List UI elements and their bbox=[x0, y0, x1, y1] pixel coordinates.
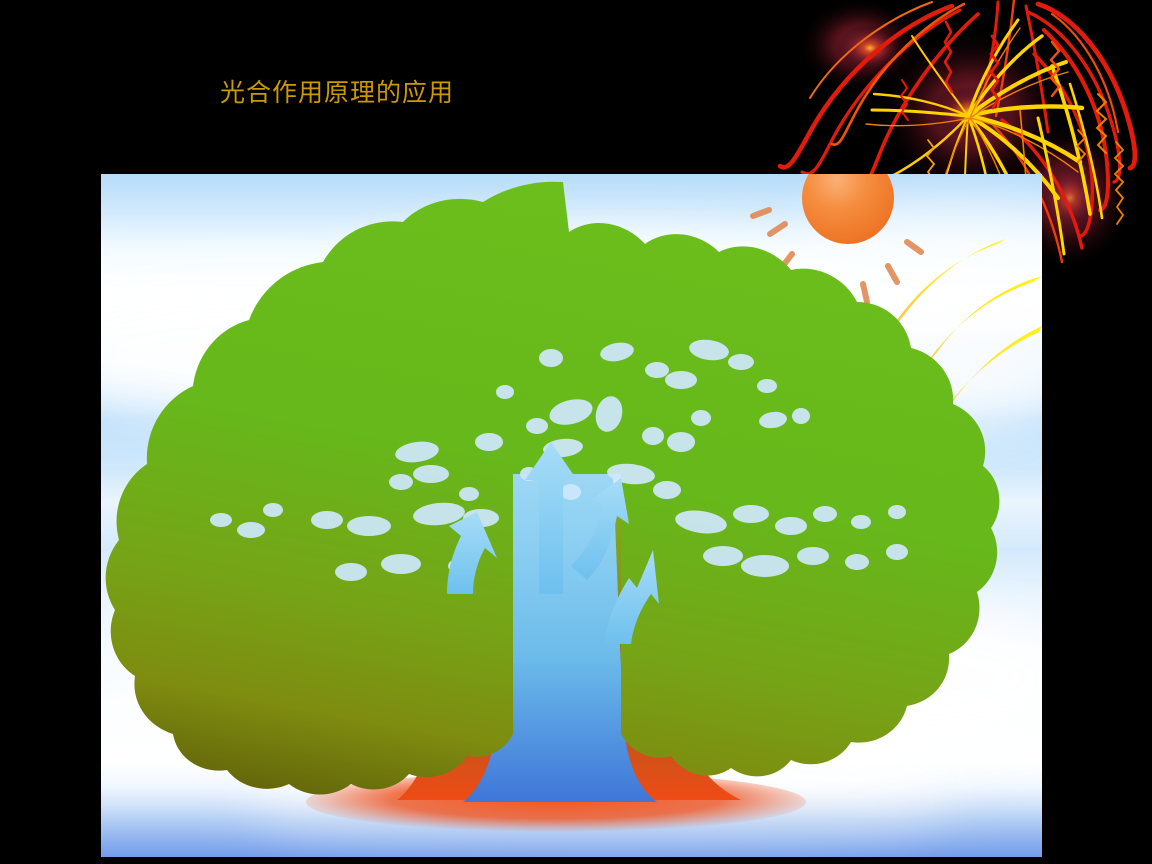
slide-canvas: 光合作用原理的应用 bbox=[0, 0, 1152, 864]
sun-icon bbox=[802, 174, 894, 244]
page-title: 光合作用原理的应用 bbox=[220, 78, 454, 108]
photosynthesis-illustration bbox=[101, 174, 1042, 857]
illustration-vector-layer bbox=[101, 174, 1042, 857]
